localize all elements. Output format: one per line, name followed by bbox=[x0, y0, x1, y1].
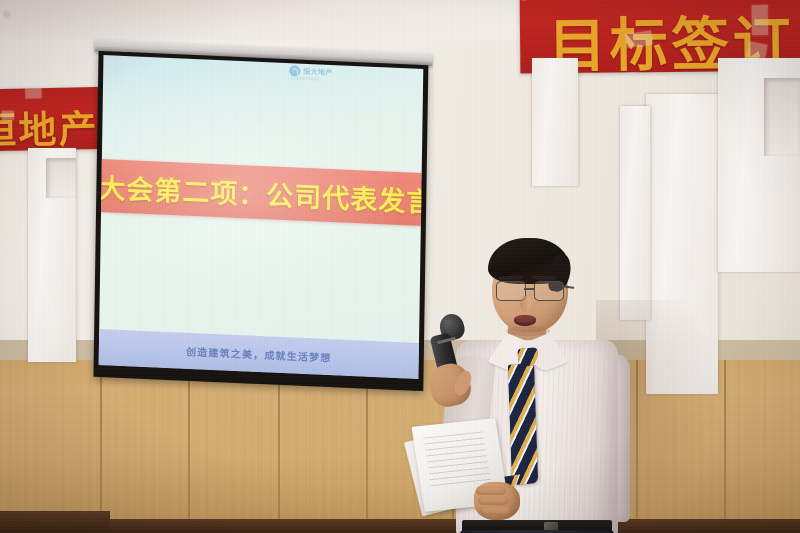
wall-pillar bbox=[646, 94, 718, 394]
floor-left bbox=[0, 511, 110, 533]
lens-right bbox=[534, 281, 564, 301]
speaker-chin-shadow bbox=[506, 326, 550, 336]
slide-footer-tagline: 创造建筑之美，成就生活梦想 bbox=[186, 343, 332, 364]
banner-left-text: 恒地产 bbox=[0, 98, 100, 151]
paper-text-lines bbox=[423, 431, 491, 489]
wall-niche bbox=[764, 78, 800, 156]
tape-piece bbox=[25, 87, 41, 99]
presentation-slide: 恒大地产 EVERGRANDE 大会第二项：公司代表发言 创造建筑之美，成就生活… bbox=[99, 55, 424, 379]
ceiling-fixture-icon bbox=[4, 12, 9, 17]
floor bbox=[0, 519, 800, 533]
logo-wordmark: 恒大地产 bbox=[303, 66, 333, 77]
necktie bbox=[508, 363, 538, 485]
circle-logo-icon bbox=[289, 65, 300, 76]
glasses-bridge bbox=[524, 288, 534, 290]
tape-piece bbox=[2, 111, 14, 120]
speaker-figure bbox=[404, 236, 654, 533]
eyeglasses-icon bbox=[494, 281, 566, 300]
slide-title: 大会第二项：公司代表发言 bbox=[99, 166, 424, 220]
wall-niche bbox=[46, 158, 76, 198]
banner-left: 恒地产 bbox=[0, 87, 105, 151]
speaker-mouth bbox=[514, 315, 536, 326]
screen-frame: 恒大地产 EVERGRANDE 大会第二项：公司代表发言 创造建筑之美，成就生活… bbox=[93, 51, 428, 391]
logo-subtext: EVERGRANDE bbox=[291, 76, 319, 81]
conference-photo-scene: 恒地产 目标签订 恒大地产 bbox=[0, 0, 800, 533]
speaker-nose bbox=[520, 296, 531, 312]
tape-piece bbox=[752, 5, 768, 35]
slide-title-band: 大会第二项：公司代表发言 bbox=[99, 159, 424, 227]
necktie-knot bbox=[518, 347, 539, 366]
wall-pillar bbox=[532, 58, 578, 186]
projection-screen: 恒大地产 EVERGRANDE 大会第二项：公司代表发言 创造建筑之美，成就生活… bbox=[93, 39, 428, 391]
slide-logo: 恒大地产 EVERGRANDE bbox=[289, 65, 333, 78]
slide-footer-band: 创造建筑之美，成就生活梦想 bbox=[99, 329, 419, 379]
speaker-hand-holding-papers bbox=[474, 482, 520, 520]
